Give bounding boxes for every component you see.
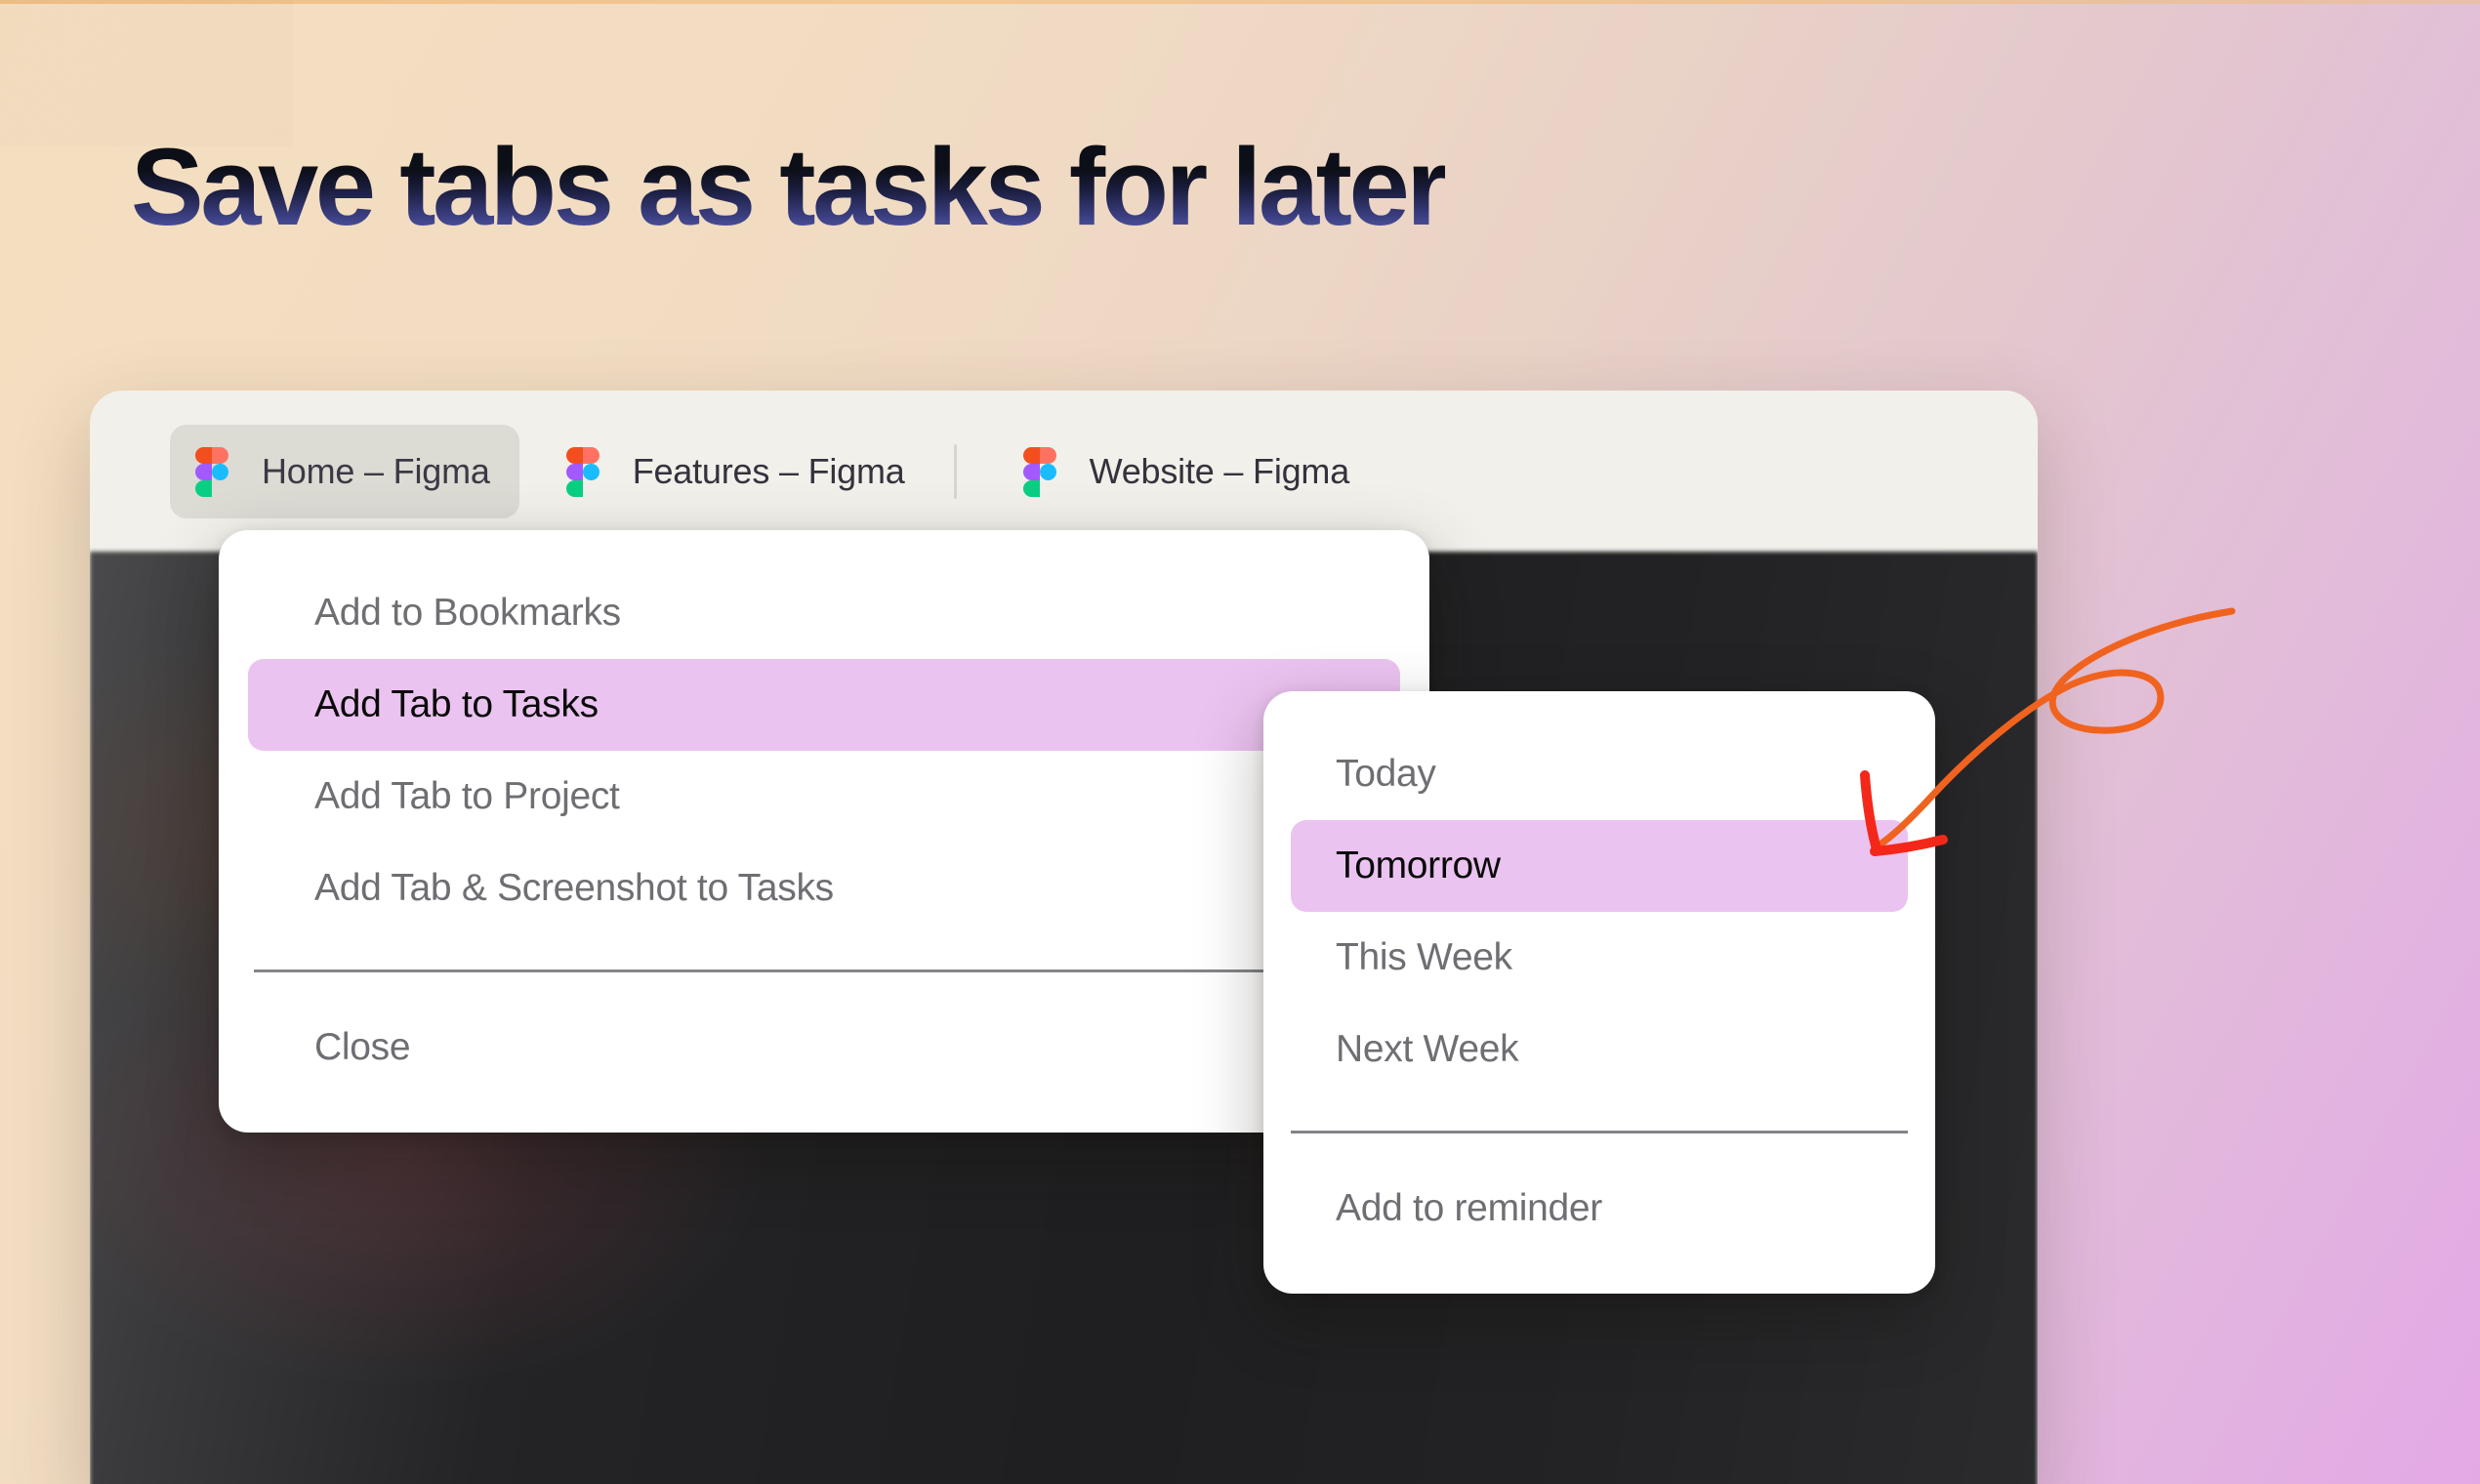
submenu-item-label: Today <box>1336 753 1436 796</box>
menu-item-label: Add Tab to Tasks <box>314 683 599 726</box>
submenu-item-today[interactable]: Today <box>1291 728 1908 820</box>
grain-texture <box>0 0 293 146</box>
submenu-item-tomorrow[interactable]: Tomorrow <box>1291 820 1908 912</box>
browser-tab-label: Website – Figma <box>1090 451 1349 492</box>
menu-divider <box>254 969 1394 972</box>
browser-tab-home[interactable]: Home – Figma <box>170 425 519 518</box>
menu-item-add-to-bookmarks[interactable]: Add to Bookmarks <box>248 567 1400 659</box>
figma-icon <box>195 447 228 496</box>
menu-item-label: Close <box>314 1026 410 1069</box>
top-accent-line <box>0 0 2480 4</box>
tasks-due-date-submenu: Today Tomorrow This Week Next Week Add t… <box>1263 691 1935 1294</box>
menu-item-label: Add Tab & Screenshot to Tasks <box>314 867 834 910</box>
figma-icon <box>1023 447 1056 496</box>
menu-item-label: Add Tab to Project <box>314 775 620 818</box>
browser-tab-bar: Home – Figma Features – Figma Website – … <box>90 391 2038 552</box>
browser-tab-label: Home – Figma <box>262 451 490 492</box>
submenu-item-next-week[interactable]: Next Week <box>1291 1004 1908 1095</box>
menu-item-add-tab-to-project[interactable]: Add Tab to Project <box>248 751 1400 843</box>
browser-tab-label: Features – Figma <box>633 451 905 492</box>
tab-separator <box>954 444 957 499</box>
submenu-item-add-to-reminder[interactable]: Add to reminder <box>1291 1163 1908 1255</box>
browser-tab-website[interactable]: Website – Figma <box>998 425 1379 518</box>
page-root: Save tabs as tasks for later Home – Figm… <box>0 0 2480 1484</box>
submenu-item-label: Add to reminder <box>1336 1187 1602 1230</box>
tab-context-menu: Add to Bookmarks Add Tab to Tasks Add Ta… <box>219 530 1429 1133</box>
submenu-item-label: Next Week <box>1336 1028 1518 1071</box>
figma-icon <box>566 447 599 496</box>
menu-item-close[interactable]: Close <box>248 1002 1400 1093</box>
submenu-divider <box>1291 1131 1908 1134</box>
submenu-item-label: Tomorrow <box>1336 845 1501 887</box>
menu-item-add-tab-and-screenshot-to-tasks[interactable]: Add Tab & Screenshot to Tasks <box>248 843 1400 934</box>
menu-item-add-tab-to-tasks[interactable]: Add Tab to Tasks <box>248 659 1400 751</box>
page-title: Save tabs as tasks for later <box>131 133 1445 242</box>
menu-item-label: Add to Bookmarks <box>314 592 621 635</box>
submenu-item-this-week[interactable]: This Week <box>1291 912 1908 1004</box>
browser-tab-features[interactable]: Features – Figma <box>541 425 934 518</box>
submenu-item-label: This Week <box>1336 936 1512 979</box>
